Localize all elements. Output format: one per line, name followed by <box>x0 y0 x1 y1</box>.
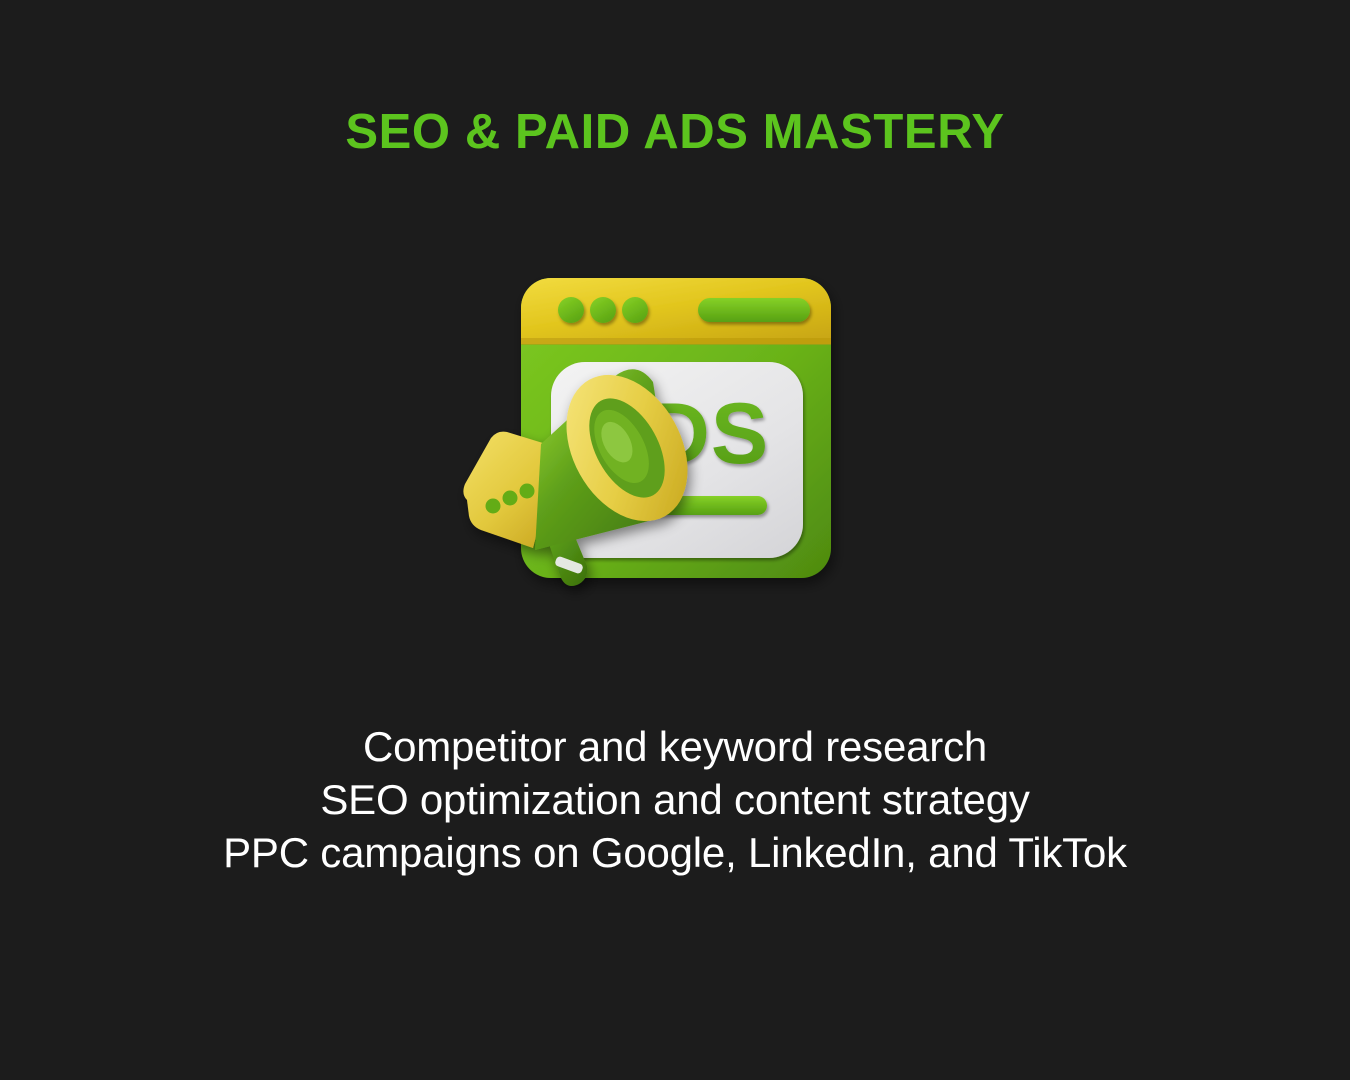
megaphone <box>463 354 712 586</box>
titlebar-pill <box>698 298 810 322</box>
page-title: SEO & PAID ADS MASTERY <box>0 107 1350 158</box>
megaphone-rim <box>542 354 712 543</box>
titlebar-dot-1 <box>558 297 584 323</box>
titlebar-dot-2 <box>590 297 616 323</box>
feature-line-3: PPC campaigns on Google, LinkedIn, and T… <box>0 826 1350 879</box>
window-frame <box>521 278 831 578</box>
megaphone-cone <box>535 369 670 550</box>
megaphone-back-dot-2 <box>503 491 518 506</box>
window-titlebar <box>521 278 831 344</box>
megaphone-back-dot-1 <box>486 499 501 514</box>
slide-root: SEO & PAID ADS MASTERY <box>0 0 1350 1080</box>
ads-browser-window-with-megaphone-icon: ADS <box>455 248 895 648</box>
feature-list: Competitor and keyword research SEO opti… <box>0 720 1350 879</box>
feature-line-2: SEO optimization and content strategy <box>0 773 1350 826</box>
titlebar-dot-3 <box>622 297 648 323</box>
illustration-container: ADS <box>0 248 1350 648</box>
content-card <box>551 362 803 558</box>
ads-label: ADS <box>585 386 770 482</box>
megaphone-back <box>463 432 559 548</box>
megaphone-handle <box>547 532 587 586</box>
feature-line-1: Competitor and keyword research <box>0 720 1350 773</box>
megaphone-back-dot-3 <box>520 484 535 499</box>
content-bar <box>607 496 767 515</box>
